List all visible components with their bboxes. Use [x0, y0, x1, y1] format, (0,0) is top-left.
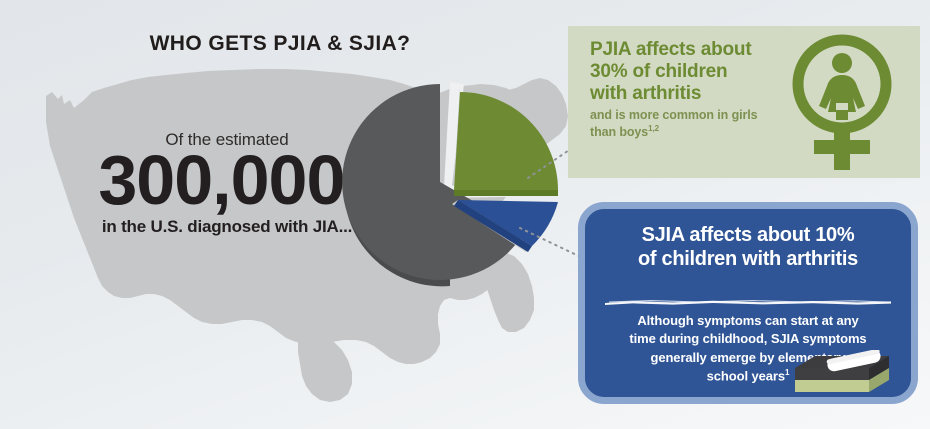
sjia-body-line-4-text: school years — [707, 369, 785, 384]
pie-slice-pjia-group — [454, 86, 558, 196]
pjia-headline-line-3: with arthritis — [590, 83, 805, 105]
chalk-divider-line — [603, 297, 895, 308]
sjia-headline-block: SJIA affects about 10% of children with … — [599, 223, 897, 271]
pjia-headline-line-1: PJIA affects about — [590, 39, 805, 61]
pjia-subtext-line-2: than boys1,2 — [590, 124, 805, 141]
pjia-subtext-line-2-text: than boys — [590, 125, 648, 139]
page-title: WHO GETS PJIA & SJIA? — [0, 32, 560, 56]
pjia-text-block: PJIA affects about 30% of children with … — [590, 39, 805, 141]
jia-subtype-pie-chart — [332, 78, 564, 290]
sjia-headline-line-2: of children with arthritis — [599, 247, 897, 271]
pjia-subtext-block: and is more common in girls than boys1,2 — [590, 108, 805, 140]
pie-slice-pjia-front — [454, 190, 558, 196]
sjia-headline-line-1: SJIA affects about 10% — [599, 223, 897, 247]
pjia-headline-line-2: 30% of children — [590, 61, 805, 83]
female-symbol-icon — [774, 32, 910, 172]
pie-slice-pjia — [454, 92, 558, 190]
stat-number: 300,000 — [98, 141, 344, 219]
pjia-subtext-line-1: and is more common in girls — [590, 108, 805, 124]
sjia-body-line-2: time during childhood, SJIA symptoms — [601, 330, 895, 348]
chalkboard-eraser-icon — [793, 350, 897, 396]
pjia-callout-panel: PJIA affects about 30% of children with … — [568, 26, 920, 178]
sjia-footnote-marker: 1 — [785, 368, 789, 377]
infographic-canvas: WHO GETS PJIA & SJIA? Of the estimated 3… — [0, 0, 930, 429]
sjia-body-line-1: Although symptoms can start at any — [601, 312, 895, 330]
pjia-footnote-marker: 1,2 — [648, 124, 659, 133]
sjia-callout-panel: SJIA affects about 10% of children with … — [578, 202, 918, 404]
